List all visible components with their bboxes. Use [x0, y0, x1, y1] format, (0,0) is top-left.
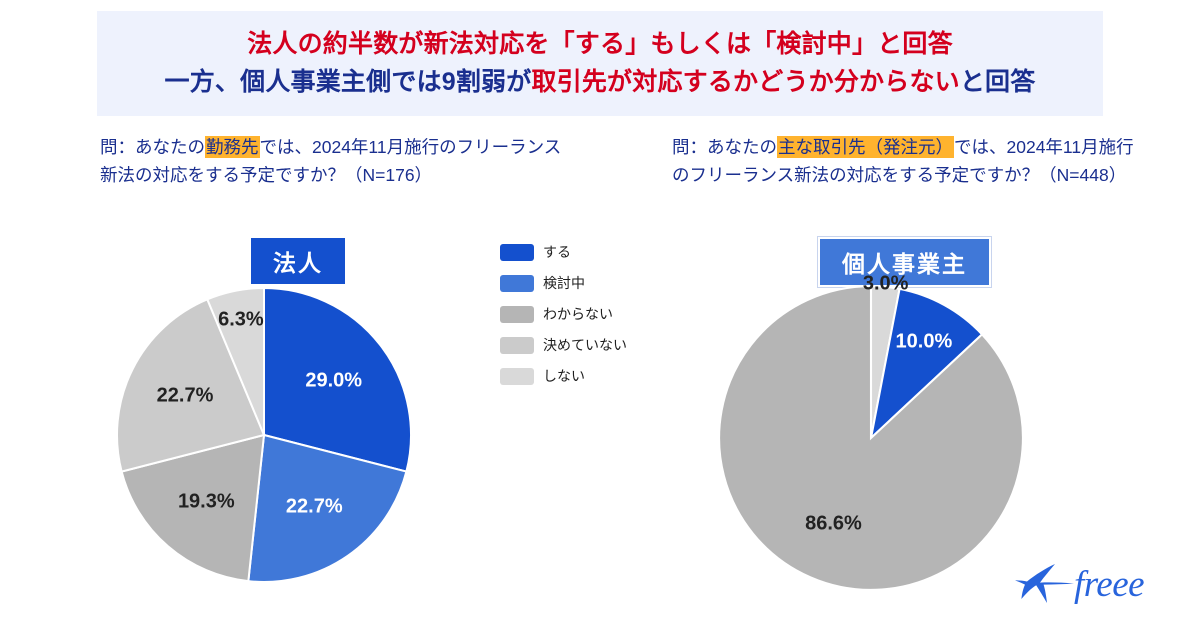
pie-data-label: 6.3%	[218, 308, 264, 331]
question-left-highlight: 勤務先	[205, 136, 260, 158]
badge-corporate: 法人	[251, 238, 345, 284]
legend-item: 検討中	[500, 273, 627, 293]
legend-item: 決めていない	[500, 335, 627, 355]
pie-slices-sole-proprietor	[719, 286, 1023, 590]
pie-data-label: 29.0%	[305, 369, 362, 392]
pie-data-label: 86.6%	[805, 513, 862, 536]
infographic-page: 法人の約半数が新法対応を「する」もしくは「検討中」と回答 一方、個人事業主側では…	[0, 0, 1200, 630]
pie-data-label: 22.7%	[157, 384, 214, 407]
legend-swatch	[500, 337, 534, 354]
legend-label: しない	[543, 366, 585, 386]
legend-swatch	[500, 306, 534, 323]
pie-data-label: 22.7%	[286, 496, 343, 519]
pie-data-label: 10.0%	[896, 331, 953, 354]
header-line-1-text: 法人の約半数が新法対応を「する」もしくは「検討中」と回答	[247, 30, 953, 58]
question-left-prefix: 問：あなたの	[100, 137, 205, 157]
legend-item: する	[500, 242, 627, 262]
header-line-1: 法人の約半数が新法対応を「する」もしくは「検討中」と回答	[247, 28, 953, 62]
pie-chart-corporate: 29.0%22.7%19.3%22.7%6.3%	[114, 285, 414, 585]
header-line-2: 一方、個人事業主側では9割弱が取引先が対応するかどうか分からないと回答	[165, 66, 1036, 100]
pie-data-label: 19.3%	[178, 490, 235, 513]
chart-right: 個人事業主 3.0%10.0%86.6%	[660, 225, 1200, 615]
swallow-bird-icon	[1014, 562, 1076, 606]
legend-swatch	[500, 368, 534, 385]
header-banner: 法人の約半数が新法対応を「する」もしくは「検討中」と回答 一方、個人事業主側では…	[97, 11, 1103, 116]
question-right-highlight: 主な取引先（発注元）	[777, 136, 954, 158]
pie-chart-sole-proprietor: 3.0%10.0%86.6%	[716, 283, 1026, 593]
header-line-2-part-1: 一方、個人事業主側では9割弱が	[165, 68, 532, 96]
legend-swatch	[500, 244, 534, 261]
question-left: 問：あなたの勤務先では、2024年11月施行のフリーランス新法の対応をする予定で…	[100, 133, 570, 190]
chart-left: 法人 29.0%22.7%19.3%22.7%6.3% する検討中わからない決め…	[90, 225, 650, 615]
legend-item: わからない	[500, 304, 627, 324]
header-line-2-part-3: と回答	[960, 68, 1036, 96]
legend-swatch	[500, 275, 534, 292]
legend-label: 決めていない	[543, 335, 627, 355]
freee-logo: freee	[1014, 558, 1174, 610]
legend-item: しない	[500, 366, 627, 386]
question-right: 問：あなたの主な取引先（発注元）では、2024年11月施行のフリーランス新法の対…	[672, 133, 1137, 190]
pie-chart-sole-proprietor-svg	[716, 283, 1026, 593]
legend-label: わからない	[543, 304, 613, 324]
question-right-prefix: 問：あなたの	[672, 137, 777, 157]
freee-logo-text: freee	[1074, 566, 1144, 603]
header-line-2-part-2: 取引先が対応するかどうか分からない	[531, 68, 959, 96]
legend-label: 検討中	[543, 273, 585, 293]
legend-corporate: する検討中わからない決めていないしない	[500, 242, 627, 386]
legend-label: する	[543, 242, 571, 262]
pie-data-label: 3.0%	[863, 272, 909, 295]
pie-slices-corporate	[117, 288, 411, 582]
